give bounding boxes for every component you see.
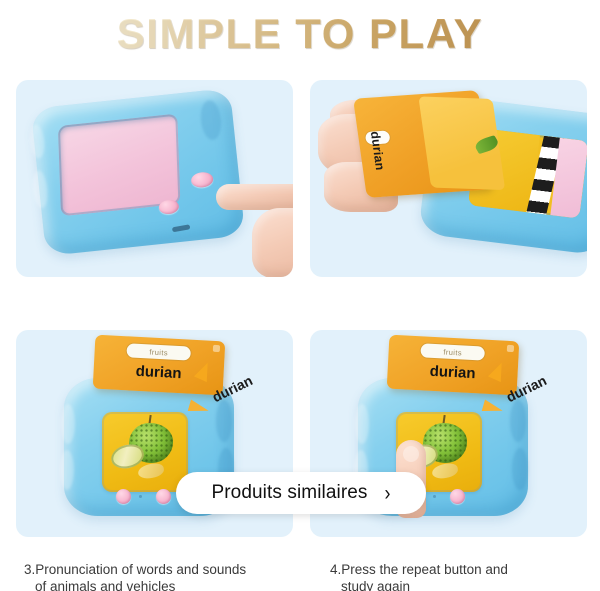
- device-rib: [585, 180, 587, 224]
- similar-products-button[interactable]: Produits similaires ›: [176, 472, 426, 514]
- step-4-caption: 4.Press the repeat button and study agai…: [330, 544, 595, 591]
- step-3-caption: 3.Pronunciation of words and sounds of a…: [24, 544, 304, 591]
- sound-wedge-icon: [488, 360, 508, 382]
- button-b[interactable]: [450, 489, 465, 504]
- device-screen: [102, 412, 188, 492]
- power-switch[interactable]: [172, 224, 191, 232]
- durian-seed: [431, 462, 459, 480]
- fingernail: [403, 446, 419, 462]
- device-rib: [31, 170, 49, 209]
- toy-card-reader-device: [31, 88, 245, 256]
- page-title-container: SIMPLE TO PLAY: [0, 10, 600, 58]
- repeat-button[interactable]: [116, 489, 131, 504]
- device-rib: [512, 448, 528, 490]
- card-inner-page: [418, 96, 504, 190]
- button-b[interactable]: [158, 199, 179, 215]
- card-fruit-illustration: [473, 136, 502, 155]
- chevron-right-icon: ›: [384, 483, 390, 504]
- device-rib: [29, 124, 46, 159]
- page-root: SIMPLE TO PLAY 1.Turn on the switch: [0, 0, 600, 591]
- pointing-finger: [216, 184, 293, 210]
- sound-effect-group: durian: [191, 356, 287, 422]
- step-2-panel: durian: [310, 80, 587, 277]
- step-3-caption-line-2: of animals and vehicles: [24, 578, 304, 591]
- spoken-word-label: durian: [209, 372, 254, 405]
- card-corner-mark: [507, 345, 514, 352]
- button-b[interactable]: [156, 489, 171, 504]
- step-1-panel: [16, 80, 293, 277]
- sound-wedge-icon: [194, 360, 214, 382]
- step-4-caption-line-1: 4.Press the repeat button and: [330, 562, 508, 577]
- card-category-pill: fruits: [420, 343, 485, 360]
- page-title: SIMPLE TO PLAY: [117, 10, 483, 58]
- card-category-pill: fruits: [126, 343, 191, 360]
- panel-gutter-vertical: [294, 80, 310, 537]
- similar-products-label: Produits similaires: [211, 482, 367, 504]
- card-category-label: fruits: [149, 347, 168, 357]
- button-a[interactable]: [190, 171, 213, 188]
- device-rib: [61, 404, 75, 444]
- card-category-label: fruits: [443, 347, 462, 357]
- microphone-hole: [433, 495, 436, 498]
- step-4-caption-line-2: study again: [330, 578, 595, 591]
- device-rib: [355, 404, 369, 444]
- spoken-word-label: durian: [503, 372, 548, 405]
- microphone-hole: [139, 495, 142, 498]
- flash-card[interactable]: durian: [353, 90, 492, 198]
- device-rib: [199, 99, 223, 141]
- device-rib: [60, 450, 74, 490]
- card-corner-mark: [213, 345, 220, 352]
- step-3-caption-line-1: 3.Pronunciation of words and sounds: [24, 562, 246, 577]
- sound-wedge-icon: [482, 399, 505, 416]
- sound-effect-group: durian: [485, 356, 581, 422]
- hand-palm: [252, 208, 293, 277]
- durian-seed: [137, 462, 165, 480]
- sound-wedge-icon: [188, 399, 211, 416]
